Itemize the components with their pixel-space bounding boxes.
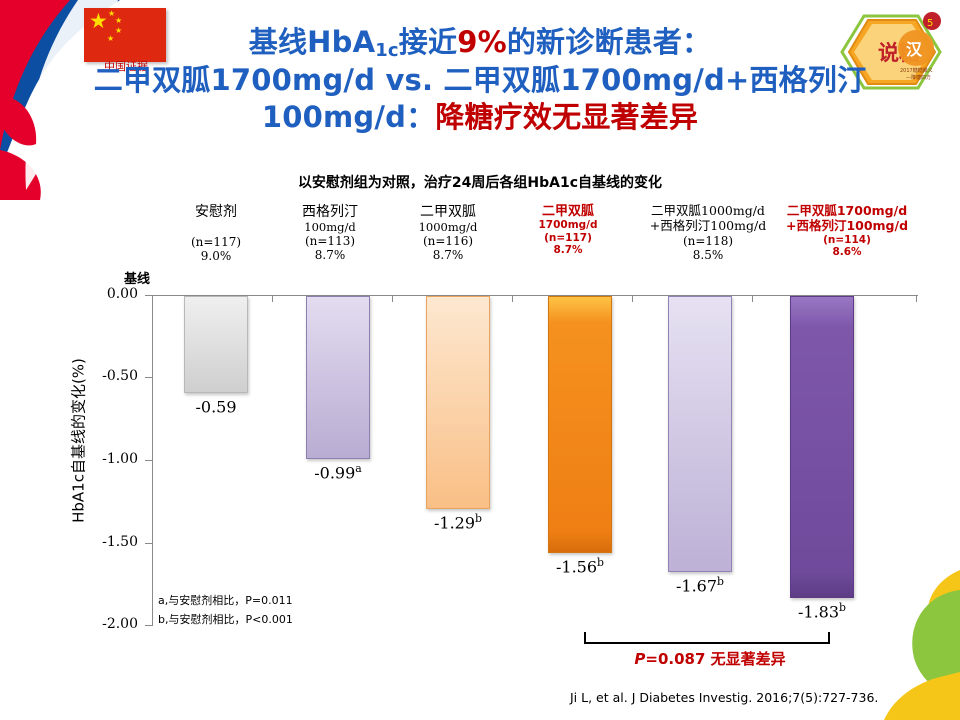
y-tick-0 xyxy=(145,295,152,296)
column-header-2: 西格列汀 100mg/d (n=113) 8.7% xyxy=(280,204,380,262)
bar-sitagliptin xyxy=(306,296,370,459)
y-tick-3 xyxy=(145,543,152,544)
x-tick-2 xyxy=(392,295,393,302)
bar-met1700-sita100 xyxy=(790,296,854,598)
y-axis-title: HbA1c自基线的变化(%) xyxy=(68,311,89,571)
y-tick-label-3: -1.50 xyxy=(92,534,138,550)
column-header-6: 二甲双胍1700mg/d +西格列汀100mg/d (n=114) 8.6% xyxy=(772,204,922,258)
chart-title: 以安慰剂组为对照，治疗24周后各组HbA1c自基线的变化 xyxy=(150,172,810,192)
bar-label-metformin-1000: -1.29b xyxy=(416,512,500,532)
x-tick-4 xyxy=(632,295,633,302)
bar-metformin-1700 xyxy=(548,296,612,553)
column-header-4: 二甲双胍 1700mg/d (n=117) 8.7% xyxy=(518,204,618,256)
baseline-tag: 基线 xyxy=(124,268,150,287)
column-header-1: 安慰剂 (n=117) 9.0% xyxy=(168,204,264,263)
x-tick-3 xyxy=(512,295,513,302)
column-header-5: 二甲双胍1000mg/d +西格列汀100mg/d (n=118) 8.5% xyxy=(640,204,776,262)
bar-label-met1000-sita100: -1.67b xyxy=(658,575,742,595)
x-tick-5 xyxy=(752,295,753,302)
x-tick-6 xyxy=(916,295,917,302)
y-tick-label-1: -0.50 xyxy=(92,368,138,384)
comparison-bracket xyxy=(584,632,830,644)
bar-label-placebo: -0.59 xyxy=(174,396,258,416)
citation: Ji L, et al. J Diabetes Investig. 2016;7… xyxy=(570,690,878,705)
comparison-p-value: P=0.087 无显著差异 xyxy=(570,648,850,669)
chart-area: 以安慰剂组为对照，治疗24周后各组HbA1c自基线的变化 安慰剂 (n=117)… xyxy=(0,0,960,720)
bar-met1000-sita100 xyxy=(668,296,732,572)
y-tick-label-4: -2.00 xyxy=(92,616,138,632)
column-header-3: 二甲双胍 1000mg/d (n=116) 8.7% xyxy=(398,204,498,262)
footnote-a: a,与安慰剂相比，P=0.011 xyxy=(158,592,293,608)
x-tick-1 xyxy=(272,295,273,302)
bar-label-metformin-1700: -1.56b xyxy=(538,556,622,576)
y-tick-label-2: -1.00 xyxy=(92,451,138,467)
bar-label-met1700-sita100: -1.83b xyxy=(780,601,864,621)
bar-label-sitagliptin: -0.99a xyxy=(296,462,380,482)
footnote-b: b,与安慰剂相比，P<0.001 xyxy=(158,611,293,627)
bar-placebo xyxy=(184,296,248,393)
y-tick-label-0: 0.00 xyxy=(92,286,138,302)
y-tick-4 xyxy=(145,625,152,626)
bar-metformin-1000 xyxy=(426,296,490,509)
y-tick-2 xyxy=(145,460,152,461)
y-tick-1 xyxy=(145,377,152,378)
y-axis-line xyxy=(152,295,153,626)
